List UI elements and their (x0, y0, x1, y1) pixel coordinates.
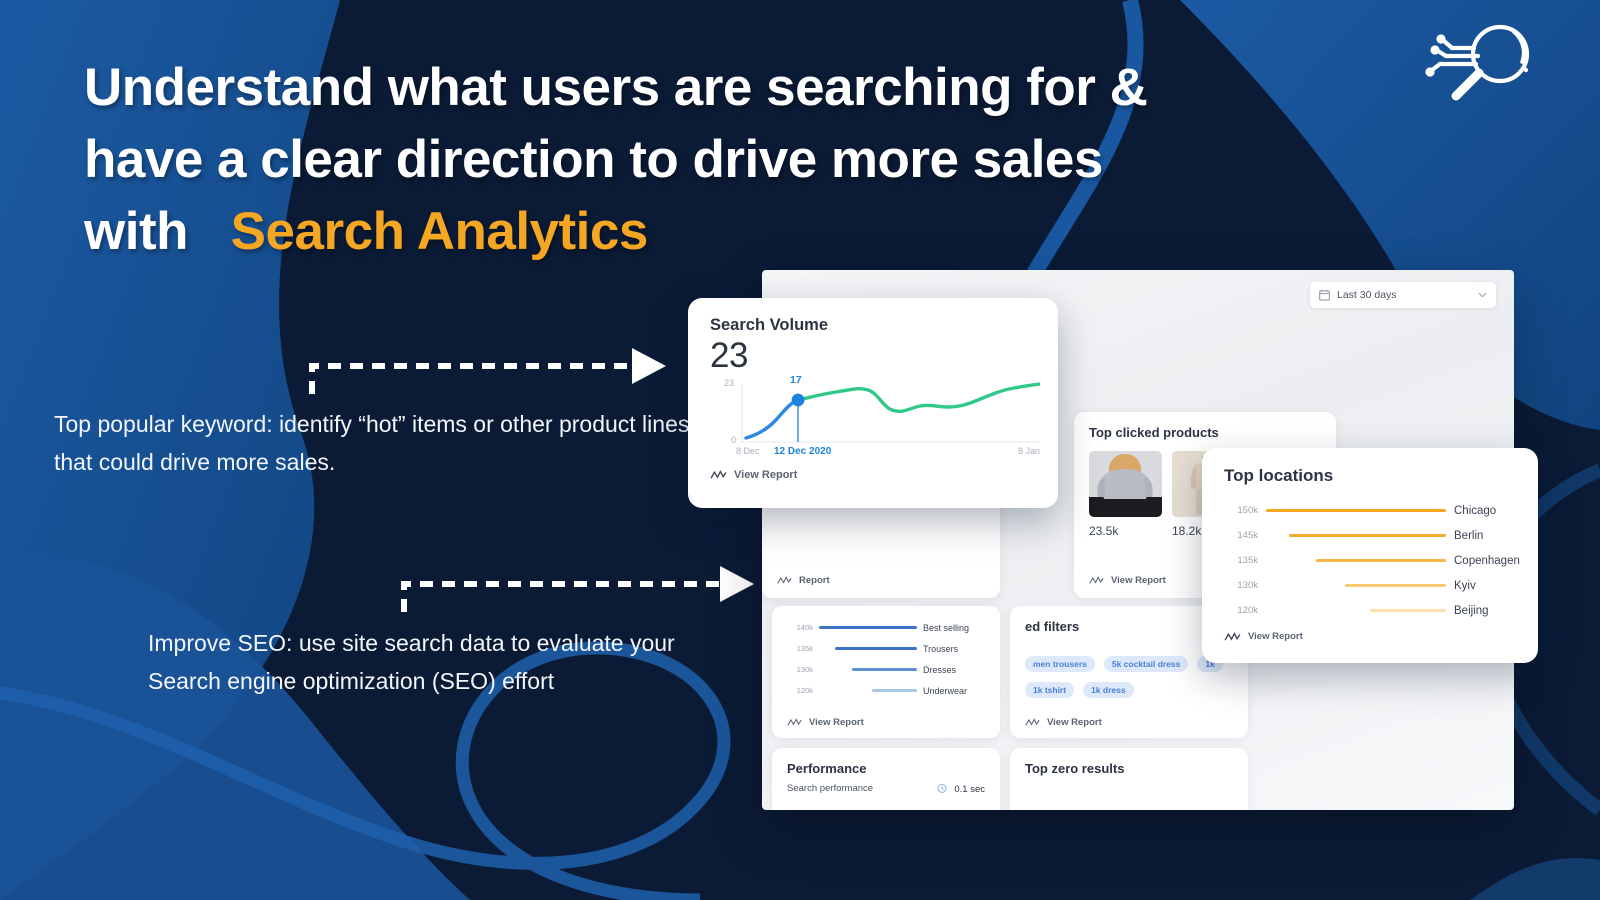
search-performance-value: 0.1 sec (954, 784, 985, 795)
best-selling-bars: 140k Best selling 135k Trousers 130k Dre… (787, 617, 985, 701)
bar-row: 120k Beijing (1224, 598, 1516, 623)
calendar-icon (1319, 289, 1330, 301)
row-label: Search performance (787, 783, 873, 794)
bar-label: Trousers (923, 644, 985, 654)
x-axis-tick-end: 8 Jan (1018, 446, 1040, 456)
tag-item[interactable]: 1k tshirt (1025, 682, 1074, 698)
tooltip-date: 12 Dec 2020 (774, 446, 831, 457)
grey-sweatshirt-model-image (1089, 451, 1162, 517)
bar-label: Berlin (1454, 530, 1516, 542)
bar-value: 120k (1224, 605, 1258, 616)
bar-row: 130k Dresses (787, 659, 985, 680)
view-report-label: View Report (1047, 717, 1102, 728)
callout-text-2: Improve SEO: use site search data to eva… (148, 624, 748, 700)
bar-row: 135k Trousers (787, 638, 985, 659)
headline-line-1: Understand what users are searching for … (84, 52, 1404, 124)
product-clicks: 23.5k (1089, 524, 1162, 538)
promo-banner: Understand what users are searching for … (0, 0, 1600, 900)
card-performance: Performance Search performance 0.1 sec I… (772, 748, 1000, 810)
bar-label: Beijing (1454, 605, 1516, 617)
line-chart-icon (1025, 718, 1040, 727)
view-report-label: View Report (1248, 631, 1303, 642)
chevron-down-icon (1478, 292, 1487, 298)
y-axis-tick-top: 23 (724, 378, 734, 388)
bar-row: 140k Best selling (787, 617, 985, 638)
tag-item[interactable]: 5k cocktail dress (1104, 656, 1189, 672)
card-title: Top locations (1224, 466, 1516, 486)
view-report-label: Report (799, 575, 830, 586)
tooltip-value: 17 (790, 374, 802, 386)
bar-label: Underwear (923, 686, 985, 696)
line-chart-icon (777, 576, 792, 585)
view-report-link[interactable]: View Report (1224, 631, 1516, 642)
bar-label: Kyiv (1454, 580, 1516, 592)
bar-value: 135k (1224, 555, 1258, 566)
bar-label: Best selling (923, 623, 985, 633)
bar-label: Dresses (923, 665, 985, 675)
view-report-label: View Report (1111, 575, 1166, 586)
bar-value: 145k (1224, 530, 1258, 541)
performance-row: Search performance 0.1 sec (787, 778, 985, 799)
card-top-zero-results: Top zero results There is no data (1010, 748, 1248, 810)
search-magnifier-circuit-logo (1412, 18, 1544, 118)
headline-accent: Search Analytics (231, 202, 648, 261)
card-top-locations: Top locations 150k Chicago 145k Berlin 1… (1202, 448, 1538, 663)
card-search-volume: Search Volume 23 23 0 17 8 Dec 12 Dec 20… (688, 298, 1058, 508)
view-report-link[interactable]: Report (777, 575, 830, 586)
view-report-link[interactable]: View Report (1025, 717, 1102, 728)
card-title: Top clicked products (1089, 425, 1321, 440)
card-title: Performance (787, 761, 985, 776)
view-report-label: View Report (734, 469, 797, 481)
bar-value: 140k (787, 623, 813, 632)
list-item[interactable]: 23.5k (1089, 451, 1162, 538)
bar-value: 135k (787, 644, 813, 653)
x-axis-tick-start: 8 Dec (736, 446, 760, 456)
search-volume-value: 23 (710, 335, 1036, 376)
stopwatch-icon (937, 783, 947, 793)
tag-item[interactable]: men trousers (1025, 656, 1095, 672)
bar-value: 120k (787, 686, 813, 695)
line-chart-icon (787, 718, 802, 727)
bar-value: 150k (1224, 505, 1258, 516)
view-report-link[interactable]: View Report (1089, 575, 1166, 586)
card-title: Search Volume (710, 316, 1036, 335)
tag-item[interactable]: 1k dress (1083, 682, 1134, 698)
bar-row: 135k Copenhagen (1224, 548, 1516, 573)
bar-value: 130k (1224, 580, 1258, 591)
view-report-link[interactable]: View Report (787, 717, 864, 728)
line-chart-icon (710, 470, 727, 480)
line-chart-icon (1089, 576, 1104, 585)
card-title: Top zero results (1025, 761, 1233, 776)
headline-line-3: with Search Analytics (84, 196, 1404, 268)
product-thumbnail (1089, 451, 1162, 517)
date-range-label: Last 30 days (1337, 289, 1471, 301)
bar-row: 120k Underwear (787, 680, 985, 701)
search-volume-line-chart: 23 0 17 8 Dec 12 Dec 2020 8 Jan (710, 378, 1040, 460)
card-best-selling: 140k Best selling 135k Trousers 130k Dre… (772, 606, 1000, 738)
bar-label: Chicago (1454, 505, 1516, 517)
connector-arrow-1 (306, 344, 666, 400)
bar-row: 145k Berlin (1224, 523, 1516, 548)
view-report-link[interactable]: View Report (710, 469, 1036, 481)
headline-line-2: have a clear direction to drive more sal… (84, 124, 1404, 196)
bar-label: Copenhagen (1454, 555, 1516, 567)
y-axis-tick-bottom: 0 (731, 435, 736, 445)
callout-text-1: Top popular keyword: identify “hot” item… (54, 405, 714, 481)
line-chart-icon (1224, 632, 1241, 642)
bar-row: 150k Chicago (1224, 498, 1516, 523)
headline-line-3-prefix: with (84, 202, 188, 261)
date-range-selector[interactable]: Last 30 days (1310, 282, 1496, 308)
view-report-label: View Report (809, 717, 864, 728)
connector-arrow-2 (398, 560, 754, 616)
page-title: Understand what users are searching for … (84, 52, 1404, 268)
bar-value: 130k (787, 665, 813, 674)
top-locations-bars: 150k Chicago 145k Berlin 135k Copenhagen… (1224, 498, 1516, 623)
performance-row: Indexed collections 30 (787, 809, 985, 810)
row-value: 0.1 sec (937, 783, 985, 795)
bar-row: 130k Kyiv (1224, 573, 1516, 598)
